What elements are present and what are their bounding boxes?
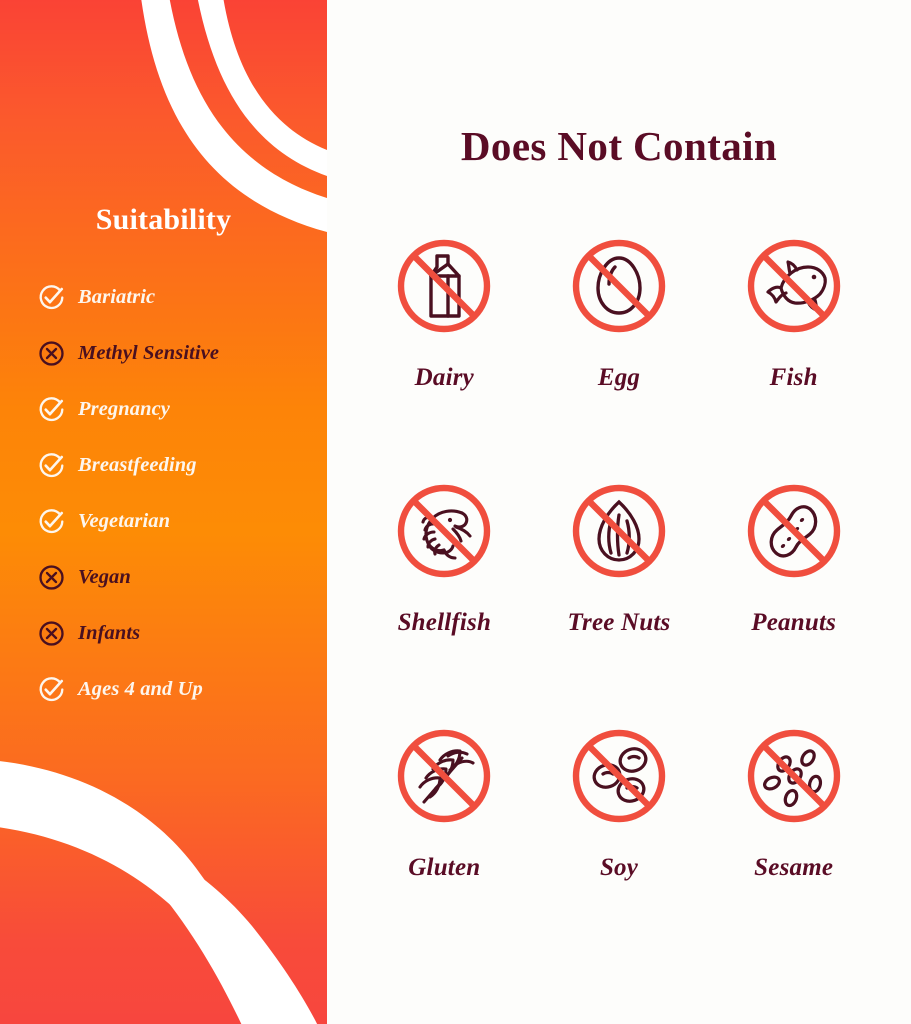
allergen-label: Fish [770,364,818,392]
x-circle-icon [38,564,65,591]
allergen-item-egg: Egg [532,226,707,471]
list-item-label: Pregnancy [78,398,170,421]
list-item-label: Methyl Sensitive [78,342,219,365]
allergen-label: Soy [600,854,638,882]
allergen-item-fish: Fish [706,226,881,471]
allergen-label: Dairy [415,364,474,392]
check-circle-icon [38,452,65,479]
allergen-label: Peanuts [751,609,836,637]
allergen-label: Egg [598,364,640,392]
almond-no-icon [559,471,679,591]
list-item-label: Ages 4 and Up [78,678,203,701]
check-circle-icon [38,676,65,703]
x-circle-icon [38,620,65,647]
infographic-page: Suitability Bariatric Methyl Sensitive [0,0,911,1024]
allergen-label: Shellfish [398,609,492,637]
check-circle-icon [38,508,65,535]
list-item: Infants [38,605,318,661]
check-circle-icon [38,284,65,311]
fish-no-icon [734,226,854,346]
list-item: Vegan [38,549,318,605]
page-title-does-not-contain: Does Not Contain [327,122,911,170]
milk-carton-no-icon [384,226,504,346]
soybean-no-icon [559,716,679,836]
sesame-seeds-no-icon [734,716,854,836]
list-item: Pregnancy [38,381,318,437]
suitability-list: Bariatric Methyl Sensitive Pregnancy [38,269,318,717]
allergen-label: Gluten [408,854,480,882]
suitability-panel: Suitability Bariatric Methyl Sensitive [0,0,327,1024]
list-item-label: Breastfeeding [78,454,197,477]
allergen-item-tree-nuts: Tree Nuts [532,471,707,716]
allergen-item-sesame: Sesame [706,716,881,961]
allergen-label: Sesame [754,854,833,882]
allergen-item-dairy: Dairy [357,226,532,471]
allergen-item-shellfish: Shellfish [357,471,532,716]
check-circle-icon [38,396,65,423]
list-item: Ages 4 and Up [38,661,318,717]
x-circle-icon [38,340,65,367]
list-item-label: Bariatric [78,286,155,309]
list-item: Breastfeeding [38,437,318,493]
list-item-label: Vegan [78,566,131,589]
shrimp-no-icon [384,471,504,591]
list-item-label: Infants [78,622,140,645]
egg-no-icon [559,226,679,346]
allergen-item-soy: Soy [532,716,707,961]
list-item-label: Vegetarian [78,510,170,533]
list-item: Methyl Sensitive [38,325,318,381]
page-title-suitability: Suitability [0,203,327,237]
wheat-no-icon [384,716,504,836]
allergen-item-peanuts: Peanuts [706,471,881,716]
allergen-label: Tree Nuts [568,609,671,637]
list-item: Bariatric [38,269,318,325]
list-item: Vegetarian [38,493,318,549]
peanut-no-icon [734,471,854,591]
allergen-item-gluten: Gluten [357,716,532,961]
allergen-grid: Dairy Egg [357,226,881,961]
